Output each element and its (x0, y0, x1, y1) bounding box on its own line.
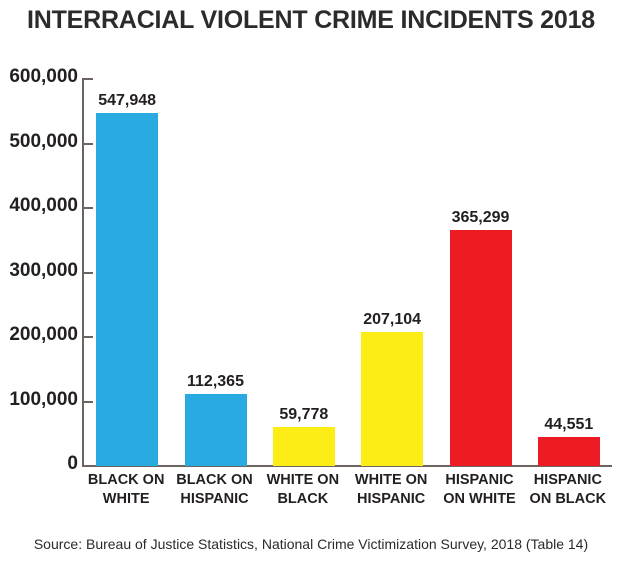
y-axis-tick-label: 100,000 (2, 389, 78, 411)
y-axis-tick-label: 300,000 (2, 260, 78, 282)
category-label-line: ON WHITE (435, 490, 523, 509)
bar-group[interactable]: 44,551 (538, 79, 600, 466)
category-label-line: HISPANIC (524, 471, 612, 490)
x-axis-category-label: HISPANICON WHITE (435, 471, 523, 509)
bar-value-label: 207,104 (347, 311, 437, 329)
y-axis-tick-label: 200,000 (2, 324, 78, 346)
bar-group[interactable]: 59,778 (273, 79, 335, 466)
bar-group[interactable]: 547,948 (96, 79, 158, 466)
x-axis-category-label: HISPANICON BLACK (524, 471, 612, 509)
bar-value-label: 44,551 (524, 416, 614, 434)
chart-title: INTERRACIAL VIOLENT CRIME INCIDENTS 2018 (0, 6, 622, 35)
bar[interactable] (538, 437, 600, 466)
category-label-line: WHITE ON (347, 471, 435, 490)
bar[interactable] (185, 394, 247, 466)
x-axis-category-label: WHITE ONBLACK (259, 471, 347, 509)
bar[interactable] (361, 332, 423, 466)
x-axis-category-labels: BLACK ONWHITEBLACK ONHISPANICWHITE ONBLA… (82, 471, 612, 519)
x-axis-category-label: BLACK ONWHITE (82, 471, 170, 509)
category-label-line: HISPANIC (435, 471, 523, 490)
y-axis-tick-label: 0 (2, 453, 78, 475)
x-axis-category-label: BLACK ONHISPANIC (170, 471, 258, 509)
y-axis-tick-label: 400,000 (2, 195, 78, 217)
category-label-line: WHITE (82, 490, 170, 509)
source-note: Source: Bureau of Justice Statistics, Na… (0, 536, 622, 552)
bar-group[interactable]: 112,365 (185, 79, 247, 466)
category-label-line: HISPANIC (347, 490, 435, 509)
bar[interactable] (273, 427, 335, 466)
category-label-line: WHITE ON (259, 471, 347, 490)
bar-value-label: 547,948 (82, 92, 172, 110)
bar[interactable] (450, 230, 512, 466)
category-label-line: BLACK ON (170, 471, 258, 490)
x-axis-category-label: WHITE ONHISPANIC (347, 471, 435, 509)
category-label-line: HISPANIC (170, 490, 258, 509)
category-label-line: BLACK (259, 490, 347, 509)
bar-group[interactable]: 365,299 (450, 79, 512, 466)
category-label-line: BLACK ON (82, 471, 170, 490)
bar-value-label: 112,365 (171, 373, 261, 391)
bar-value-label: 365,299 (436, 209, 526, 227)
bar-group[interactable]: 207,104 (361, 79, 423, 466)
y-axis-tick-label: 600,000 (2, 66, 78, 88)
chart-container: INTERRACIAL VIOLENT CRIME INCIDENTS 2018… (0, 0, 622, 562)
bar[interactable] (96, 113, 158, 466)
category-label-line: ON BLACK (524, 490, 612, 509)
bar-value-label: 59,778 (259, 406, 349, 424)
bars-layer: 547,948112,36559,778207,104365,29944,551 (82, 79, 612, 466)
y-axis-tick-label: 500,000 (2, 131, 78, 153)
